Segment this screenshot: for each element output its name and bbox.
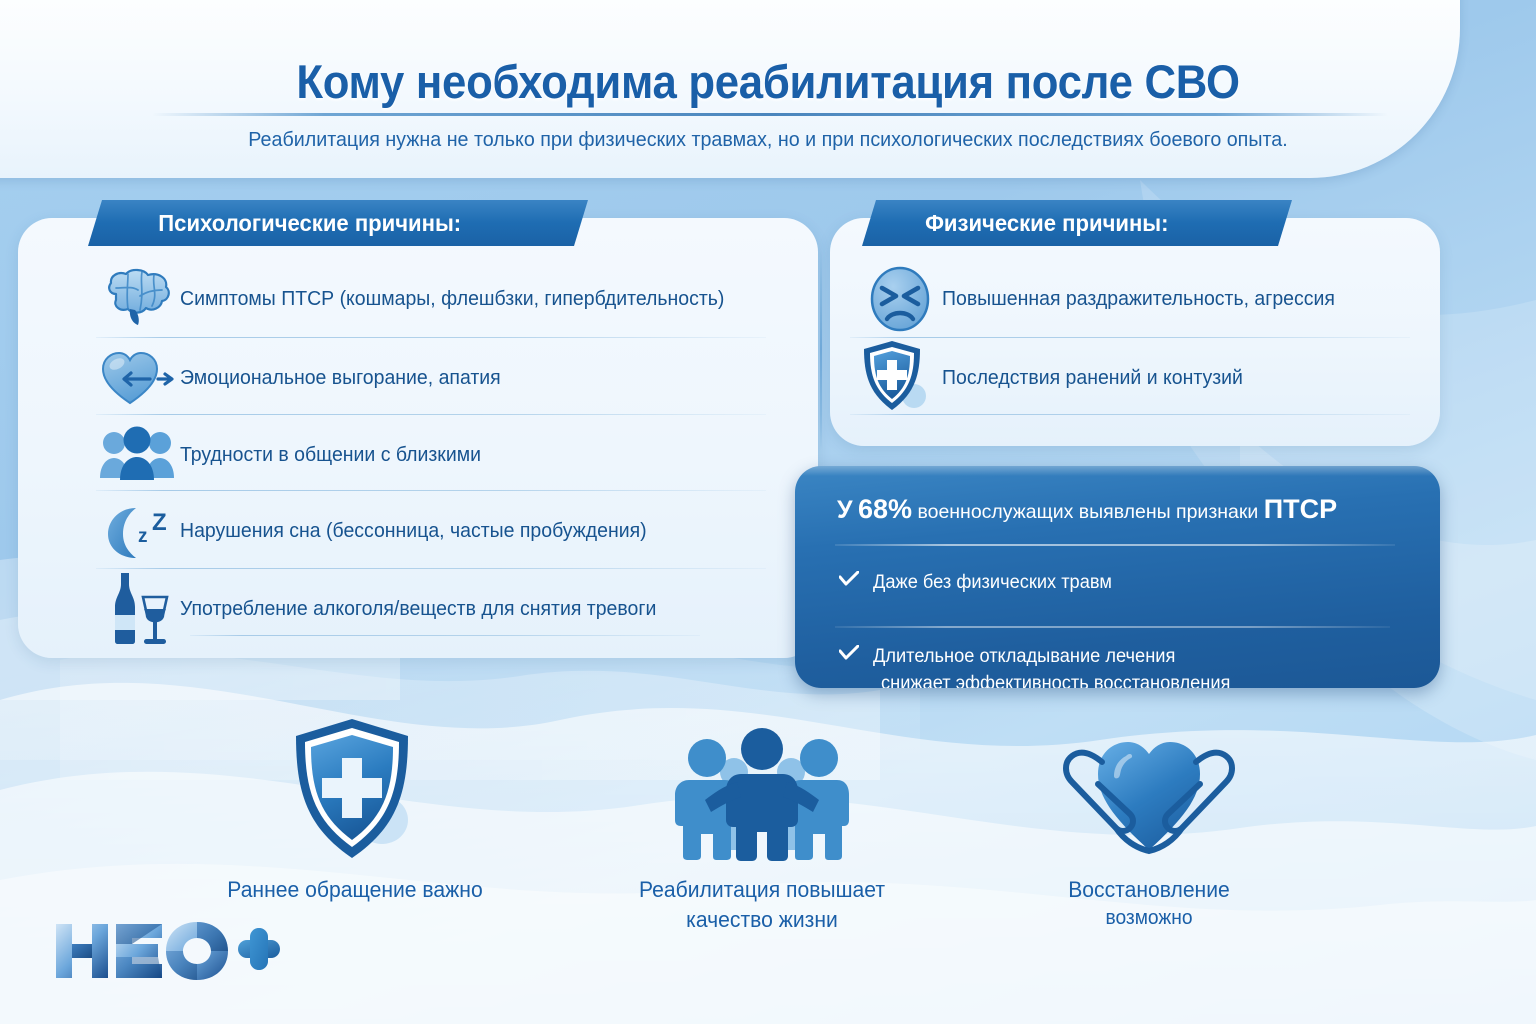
- list-item-label: Употребление алкоголя/веществ для снятия…: [180, 597, 656, 621]
- bottle-glass-icon: [96, 572, 180, 646]
- statistics-list-item-label: Даже без физических травм: [873, 570, 1112, 597]
- title-divider: [152, 113, 1388, 116]
- check-icon: [839, 644, 873, 667]
- statistics-list-item-label: Длительное откладывание лечения: [873, 644, 1230, 671]
- page-title: Кому необходима реабилитация после СВО: [54, 54, 1482, 109]
- page-subtitle: Реабилитация нужна не только при физичес…: [31, 128, 1506, 152]
- list-item-label: Эмоциональное выгорание, апатия: [180, 366, 501, 390]
- list-item[interactable]: Последствия ранений и контузий: [858, 341, 1259, 415]
- physical-heading-ribbon: Физические причины:: [862, 200, 1292, 246]
- list-divider: [96, 490, 766, 491]
- people-group-icon: [96, 418, 180, 492]
- statistics-percent: 68%: [858, 494, 912, 524]
- psychological-heading-label: Психологические причины:: [158, 210, 461, 237]
- statistics-headline-tail: ПТСР: [1264, 494, 1337, 524]
- list-divider: [96, 337, 766, 338]
- list-item-label: Трудности в общении с близкими: [180, 443, 481, 467]
- list-item-label: Нарушения сна (бессонница, частые пробуж…: [180, 519, 647, 543]
- list-divider: [96, 568, 766, 569]
- psychological-heading-ribbon: Психологические причины:: [88, 200, 588, 246]
- moon-sleep-icon: z Z: [96, 494, 180, 568]
- list-item[interactable]: Эмоциональное выгорание, апатия: [96, 341, 518, 415]
- physical-heading-label: Физические причины:: [925, 210, 1168, 237]
- statistics-prefix: У: [837, 496, 853, 524]
- statistics-list-item: Даже без физических травм: [839, 570, 1122, 597]
- list-item-label: Повышенная раздражительность, агрессия: [942, 287, 1335, 311]
- brain-icon: [96, 262, 180, 336]
- list-item-label: Последствия ранений и контузий: [942, 366, 1243, 390]
- angry-face-icon: [858, 262, 942, 336]
- svg-text:z: z: [138, 526, 148, 547]
- feature-quality-of-life: Реабилитация повышает качество жизни: [597, 712, 927, 934]
- list-item[interactable]: z Z Нарушения сна (бессонница, частые пр…: [96, 494, 671, 568]
- logo[interactable]: [52, 918, 282, 989]
- heart-arrow-icon: [96, 341, 180, 415]
- column-divider: [820, 250, 822, 450]
- list-item[interactable]: Повышенная раздражительность, агрессия: [858, 262, 1356, 336]
- feature-caption: Восстановление: [991, 876, 1308, 904]
- shield-cross-icon: [858, 341, 942, 415]
- statistics-divider-2: [835, 626, 1390, 628]
- svg-text:Z: Z: [152, 509, 167, 536]
- list-divider: [96, 414, 766, 415]
- feature-caption: Раннее обращение важно: [197, 876, 514, 904]
- shield-cross-icon: [190, 712, 520, 862]
- statistics-panel: У 68% военнослужащих выявлены признаки П…: [795, 466, 1440, 688]
- hands-heart-icon: [984, 712, 1314, 862]
- statistics-headline: У 68% военнослужащих выявлены признаки П…: [837, 494, 1410, 525]
- list-item[interactable]: Симптомы ПТСР (кошмары, флешбзки, гиперб…: [96, 262, 753, 336]
- people-together-icon: [597, 712, 927, 862]
- feature-caption: Реабилитация повышает: [604, 876, 921, 904]
- statistics-divider: [835, 544, 1395, 546]
- statistics-list-item-label-2: снижает эффективность восстановления: [881, 671, 1230, 688]
- infographic-canvas: Кому необходима реабилитация после СВО Р…: [0, 0, 1536, 1024]
- feature-caption-line2: качество жизни: [604, 906, 921, 934]
- statistics-list-item: Длительное откладывание лечения снижает …: [839, 644, 1245, 688]
- feature-recovery-possible: Восстановление возможно: [984, 712, 1314, 932]
- list-item-label: Симптомы ПТСР (кошмары, флешбзки, гиперб…: [180, 287, 724, 311]
- statistics-headline-rest: военнослужащих выявлены признаки: [917, 501, 1258, 523]
- check-icon: [839, 570, 873, 593]
- list-divider: [190, 635, 700, 636]
- feature-caption-line2: возможно: [991, 906, 1308, 932]
- feature-early-help: Раннее обращение важно: [190, 712, 520, 904]
- list-divider: [850, 414, 1410, 415]
- list-item[interactable]: Трудности в общении с близкими: [96, 418, 497, 492]
